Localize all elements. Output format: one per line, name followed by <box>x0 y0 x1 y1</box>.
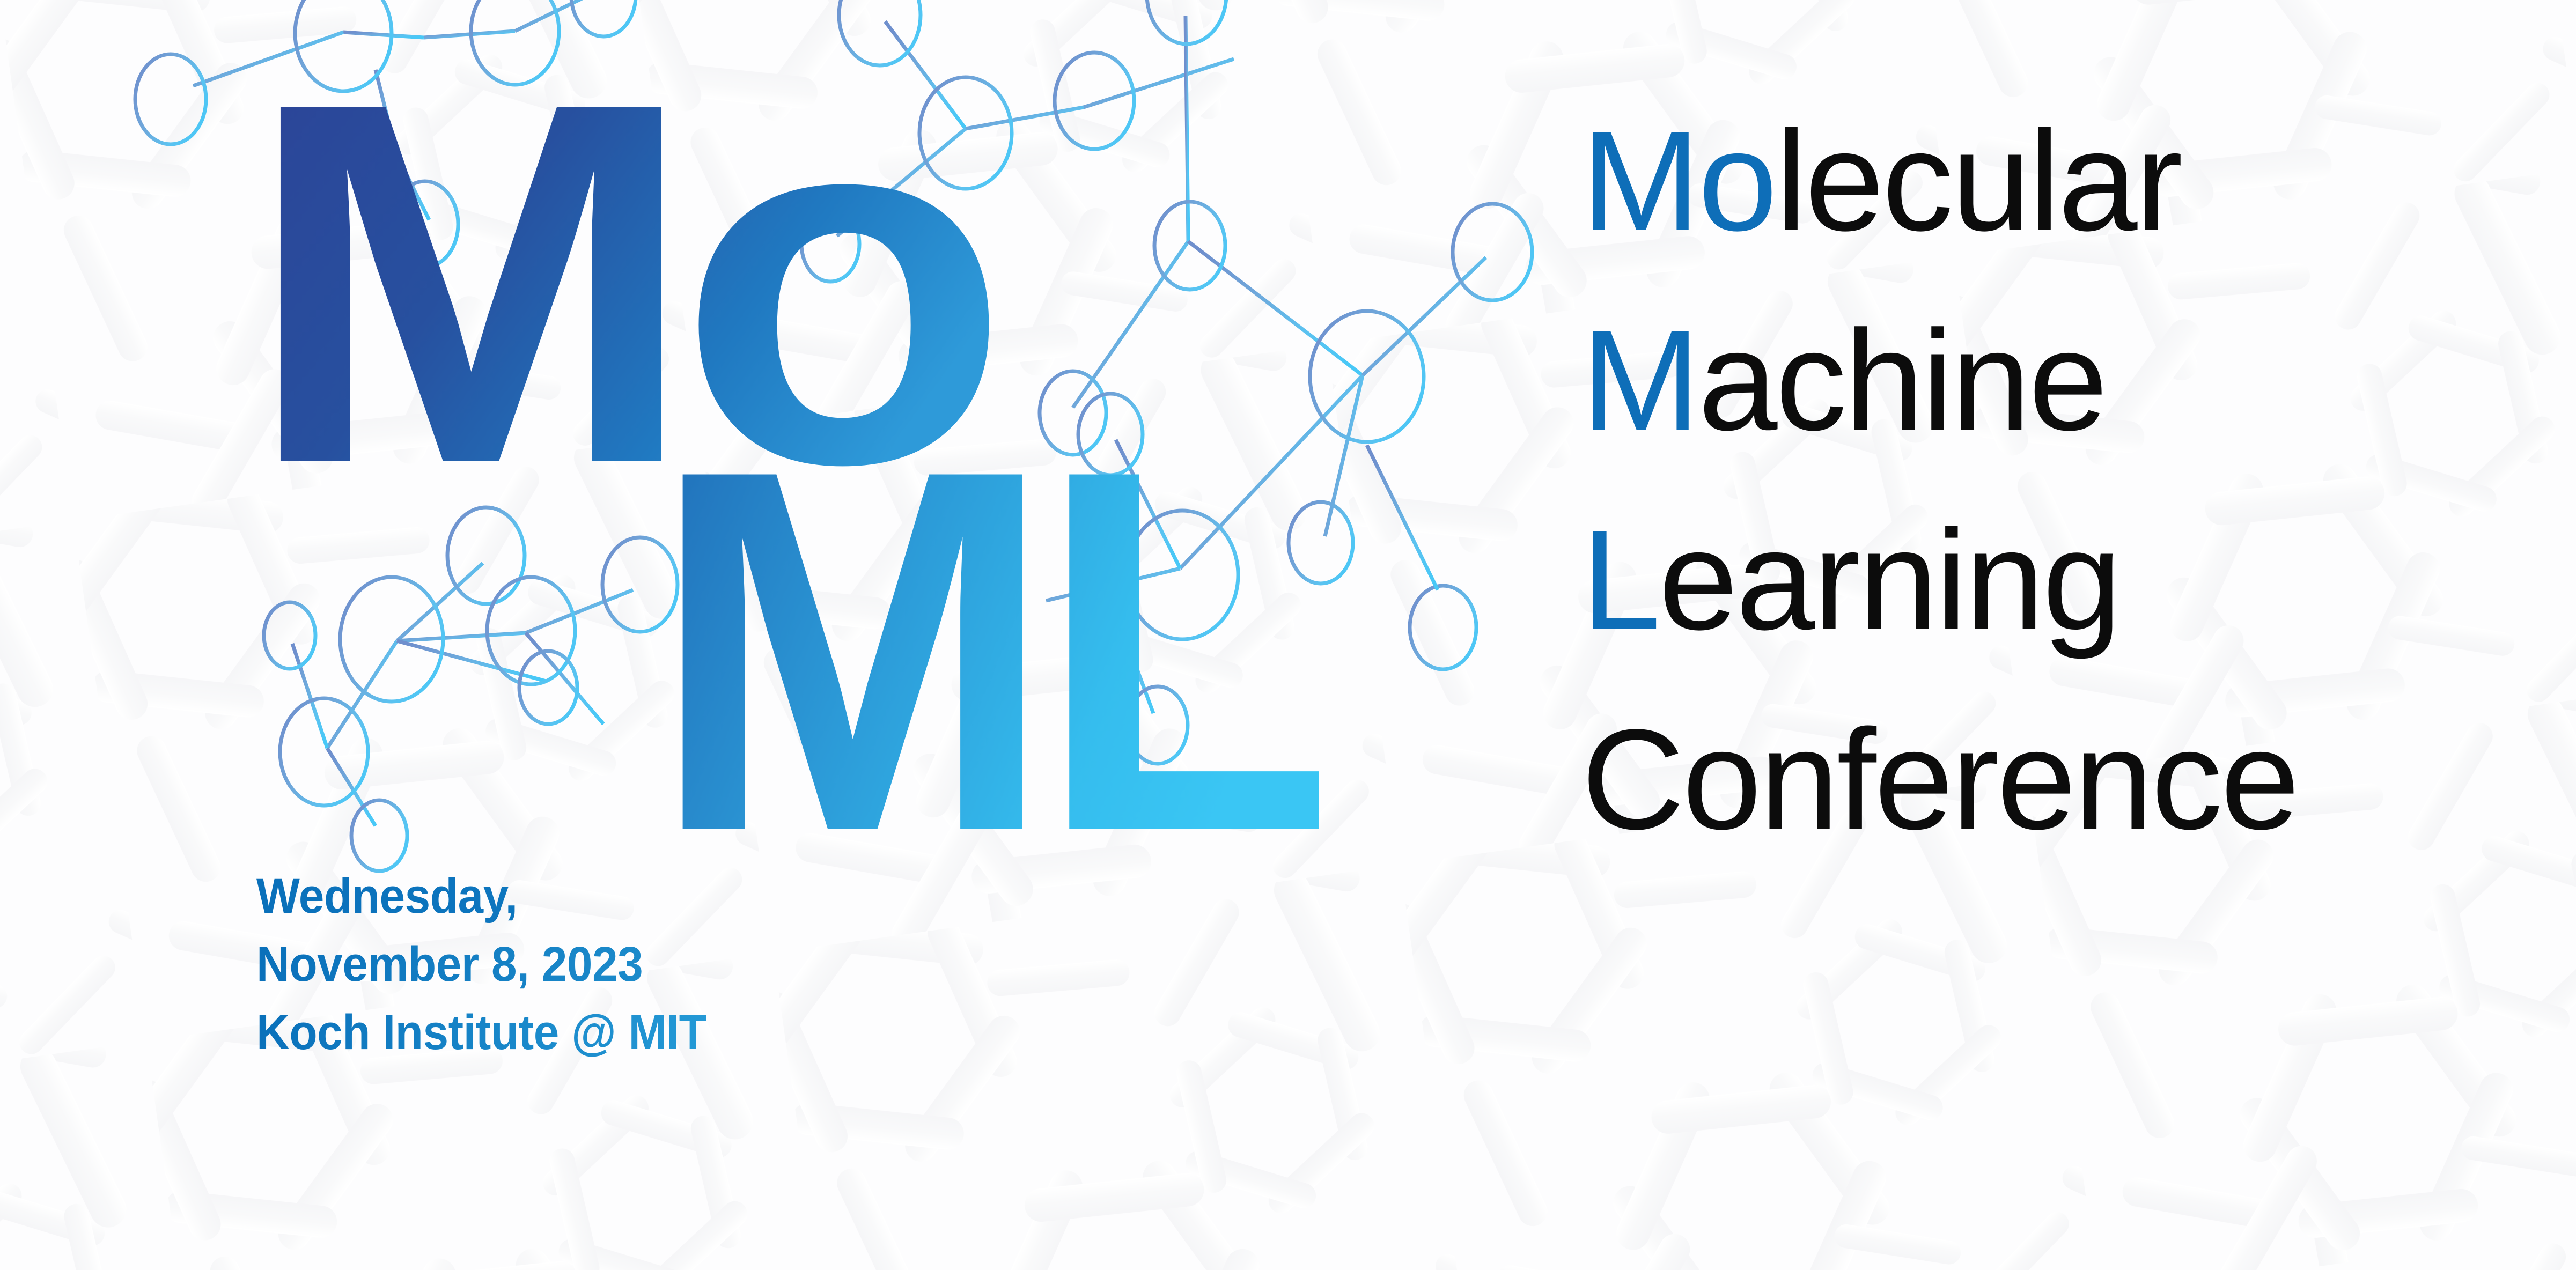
conference-banner: Mo ML Wednesday, November 8, 2023 Koch I… <box>0 0 2576 1270</box>
event-venue: Koch Institute @ MIT <box>256 999 1105 1067</box>
acronym-letter-m: M <box>1581 301 1698 460</box>
conference-name-line-conference: Conference <box>1581 680 2526 880</box>
conference-name-line-molecular: Molecular <box>1581 82 2526 281</box>
conference-word-machine: achine <box>1698 301 2106 460</box>
conference-name-block: Molecular Machine Learning Conference <box>1581 82 2526 880</box>
event-info-block: Wednesday, November 8, 2023 Koch Institu… <box>256 862 1168 1067</box>
moml-logo: Mo ML <box>244 64 1371 869</box>
svg-text:ML: ML <box>650 363 1325 869</box>
conference-name-line-learning: Learning <box>1581 481 2526 680</box>
event-date: November 8, 2023 <box>256 931 1105 999</box>
conference-word-molecular: lecular <box>1776 101 2181 261</box>
acronym-letters-mo: Mo <box>1581 101 1776 261</box>
conference-name-line-machine: Machine <box>1581 281 2526 481</box>
conference-word-learning: earning <box>1659 500 2119 660</box>
conference-word-conference: Conference <box>1581 700 2298 859</box>
acronym-letter-l: L <box>1581 500 1659 660</box>
event-day: Wednesday, <box>256 862 1105 931</box>
